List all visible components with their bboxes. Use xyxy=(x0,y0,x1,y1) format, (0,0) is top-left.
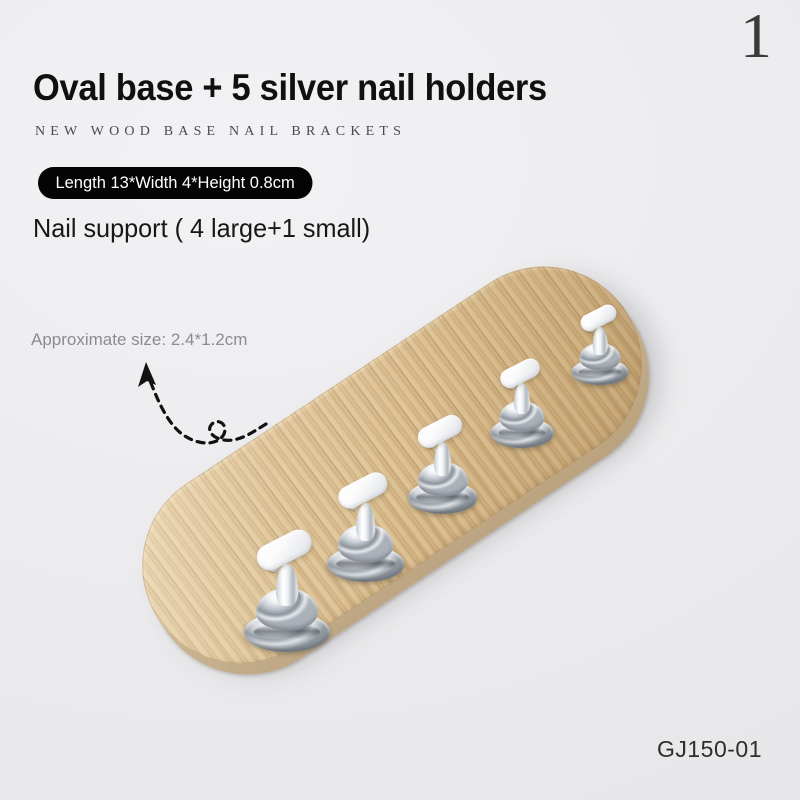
arrow-dashed-path xyxy=(149,378,266,443)
nail-support-note: Nail support ( 4 large+1 small) xyxy=(33,213,370,244)
dimensions-badge: Length 13*Width 4*Height 0.8cm xyxy=(38,167,312,199)
page-subtitle: NEW WOOD BASE NAIL BRACKETS xyxy=(35,124,406,140)
arrow-head xyxy=(138,362,156,387)
page-title: Oval base + 5 silver nail holders xyxy=(33,67,547,109)
product-image-canvas: 1 Oval base + 5 silver nail holders NEW … xyxy=(0,0,800,800)
slide-index-number: 1 xyxy=(740,4,772,68)
approximate-size-label: Approximate size: 2.4*1.2cm xyxy=(31,330,247,350)
curved-arrow-annotation xyxy=(120,350,280,460)
product-code: GJ150-01 xyxy=(657,736,762,763)
